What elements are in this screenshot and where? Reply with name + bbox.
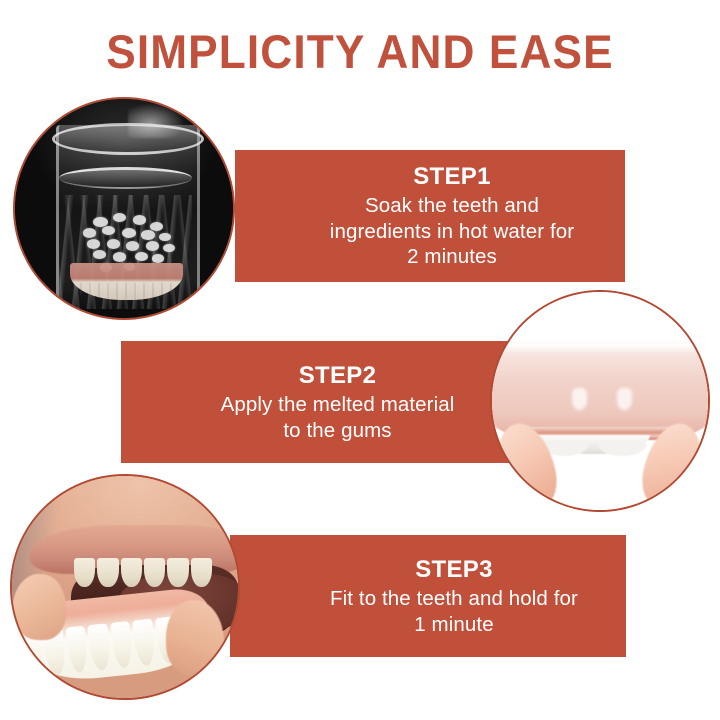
infographic-page: SIMPLICITY AND EASE STEP1 Soak the teeth… bbox=[0, 0, 720, 720]
veneer-scene bbox=[492, 292, 708, 510]
pellet bbox=[122, 228, 136, 238]
fitting-veneer-mouth-photo-inner bbox=[12, 476, 238, 698]
tooth bbox=[65, 625, 89, 673]
pellet bbox=[133, 215, 147, 225]
pellet bbox=[83, 228, 97, 238]
step-description-1-line-1: Soak the teeth and bbox=[330, 193, 574, 219]
step-description-2: Apply the melted material to the gums bbox=[211, 392, 465, 443]
step-title-2: STEP2 bbox=[211, 361, 465, 391]
step-banner-2: STEP2 Apply the melted material to the g… bbox=[121, 341, 510, 463]
glass-scene bbox=[15, 99, 233, 318]
denture-in-glass bbox=[70, 263, 183, 300]
glass-soaking-photo bbox=[13, 97, 235, 320]
fitting-veneer-mouth-photo bbox=[10, 474, 240, 700]
upper-teeth bbox=[73, 558, 213, 587]
tooth bbox=[121, 558, 142, 587]
step-description-2-line-1: Apply the melted material bbox=[221, 392, 455, 418]
pellet bbox=[113, 252, 126, 261]
tooth bbox=[144, 558, 165, 587]
tooth bbox=[110, 620, 134, 668]
pellet bbox=[107, 239, 121, 249]
veneer-tooth-highlight bbox=[572, 388, 587, 410]
tooth bbox=[88, 623, 112, 671]
tooth bbox=[191, 558, 212, 587]
water-surface-line bbox=[59, 167, 192, 190]
step-title-3: STEP3 bbox=[320, 555, 588, 585]
tooth bbox=[97, 558, 118, 587]
step-description-1: Soak the teeth and ingredients in hot wa… bbox=[326, 193, 578, 270]
step-title-1: STEP1 bbox=[326, 162, 578, 192]
veneer-tooth-arch bbox=[537, 435, 649, 455]
glass-soaking-photo-inner bbox=[15, 99, 233, 318]
step-description-3-line-2: 1 minute bbox=[330, 612, 578, 638]
tooth bbox=[133, 618, 157, 666]
step-description-3: Fit to the teeth and hold for 1 minute bbox=[320, 586, 588, 637]
veneer-tooth-highlight bbox=[617, 388, 632, 410]
pellet bbox=[150, 222, 163, 231]
step-banner-3: STEP3 Fit to the teeth and hold for 1 mi… bbox=[230, 535, 626, 657]
thumb bbox=[12, 574, 66, 641]
veneer-in-fingers-photo-inner bbox=[492, 292, 708, 510]
mouth-scene bbox=[12, 476, 238, 698]
step-description-1-line-2: ingredients in hot water for bbox=[330, 219, 574, 245]
step-description-1-line-3: 2 minutes bbox=[330, 244, 574, 270]
step-description-3-line-1: Fit to the teeth and hold for bbox=[330, 586, 578, 612]
pellet bbox=[87, 239, 100, 248]
step-description-2-line-2: to the gums bbox=[221, 418, 455, 444]
step-banner-1: STEP1 Soak the teeth and ingredients in … bbox=[235, 150, 625, 282]
pellet bbox=[141, 230, 154, 239]
page-title: SIMPLICITY AND EASE bbox=[22, 24, 699, 80]
tooth bbox=[74, 558, 95, 587]
veneer-in-fingers-photo bbox=[490, 290, 710, 512]
tooth bbox=[167, 558, 188, 587]
pellet bbox=[126, 241, 139, 250]
pellet bbox=[163, 244, 175, 253]
